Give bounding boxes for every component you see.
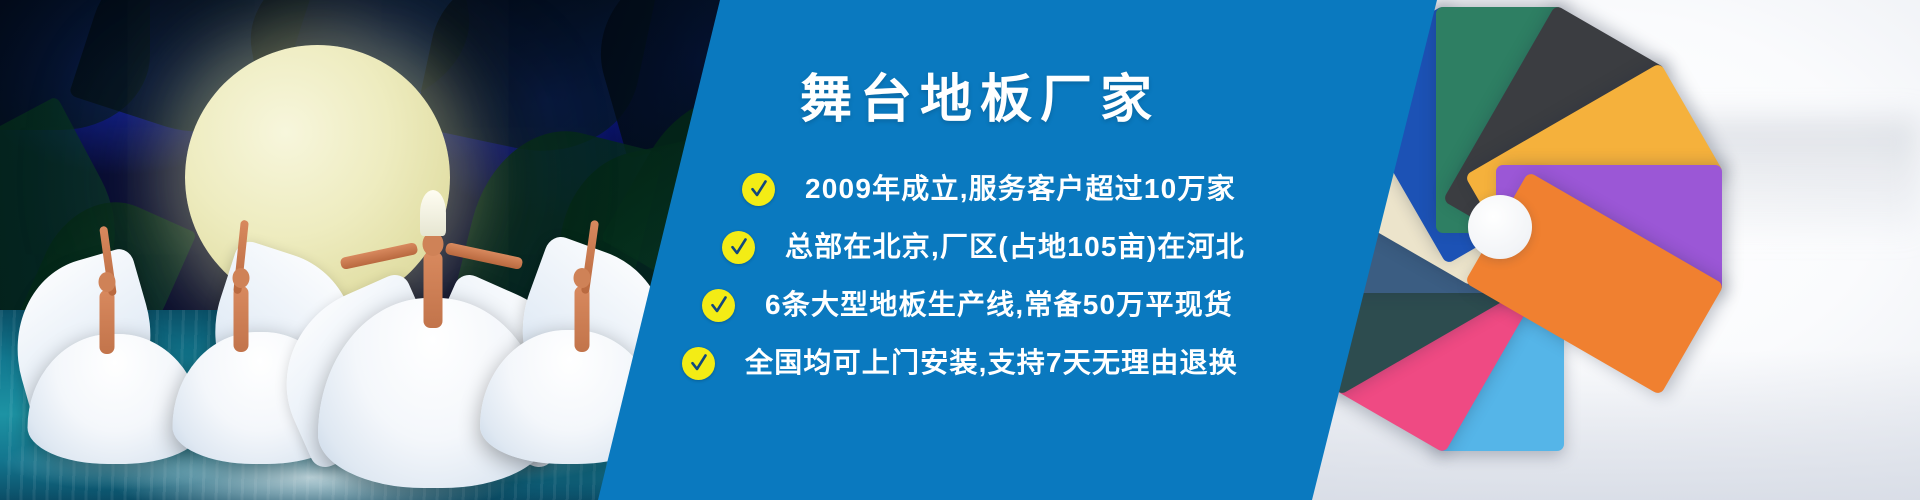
- dancer-head: [99, 272, 116, 292]
- dancer-headdress: [420, 190, 446, 236]
- list-item: 6条大型地板生产线,常备50万平现货: [702, 276, 1440, 334]
- list-item-label: 6条大型地板生产线,常备50万平现货: [765, 291, 1233, 319]
- banner-content: 舞台地板厂家 2009年成立,服务客户超过10万家 总部在北京,厂区(占地105…: [600, 0, 1440, 500]
- dancer-torso: [100, 290, 115, 354]
- dancer-torso: [575, 286, 590, 352]
- list-item: 全国均可上门安装,支持7天无理由退换: [682, 334, 1440, 392]
- promo-banner: 舞台地板厂家 2009年成立,服务客户超过10万家 总部在北京,厂区(占地105…: [0, 0, 1920, 500]
- list-item-label: 全国均可上门安装,支持7天无理由退换: [745, 349, 1238, 377]
- feature-list: 2009年成立,服务客户超过10万家 总部在北京,厂区(占地105亩)在河北 6…: [600, 160, 1440, 392]
- dancer-torso: [234, 286, 249, 352]
- check-circle-icon: [742, 173, 775, 206]
- dancer-arm: [340, 242, 419, 270]
- list-item: 2009年成立,服务客户超过10万家: [742, 160, 1440, 218]
- dancer-head: [574, 268, 591, 288]
- fan-hub: [1468, 195, 1532, 259]
- check-circle-icon: [682, 347, 715, 380]
- check-circle-icon: [722, 231, 755, 264]
- list-item-label: 总部在北京,厂区(占地105亩)在河北: [785, 233, 1245, 261]
- dancer-head: [233, 268, 250, 288]
- list-item-label: 2009年成立,服务客户超过10万家: [805, 175, 1236, 203]
- check-circle-icon: [702, 289, 735, 322]
- list-item: 总部在北京,厂区(占地105亩)在河北: [722, 218, 1440, 276]
- page-title: 舞台地板厂家: [600, 74, 1360, 126]
- dancer-torso: [424, 252, 443, 328]
